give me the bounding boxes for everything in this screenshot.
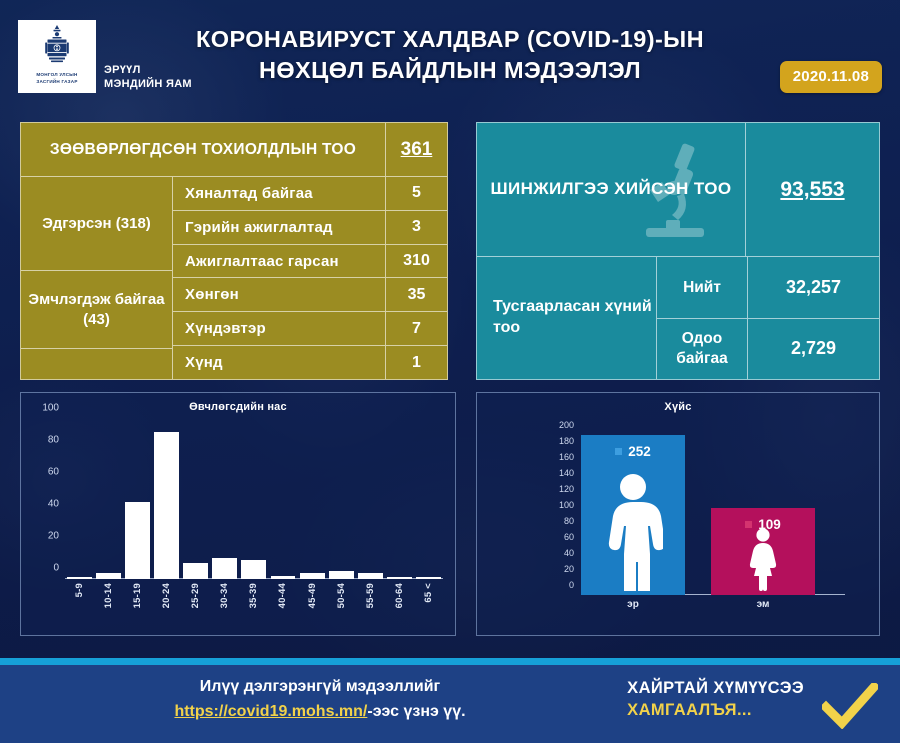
age-bar — [154, 432, 179, 579]
footer-info-line-2: https://covid19.mohs.mn/-ээс үзнэ үү. — [40, 700, 600, 725]
age-bar — [358, 573, 383, 579]
sex-bar-female: 109 — [711, 508, 815, 595]
logo-line-2: ЗАСГИЙН ГАЗАР — [36, 79, 77, 86]
age-chart-y-tick: 0 — [53, 563, 59, 574]
sex-chart-y-tick: 40 — [564, 548, 574, 558]
row-value: 7 — [385, 312, 447, 345]
age-distribution-chart: Өвчлөгсдийн нас 020406080100 5-910-1415-… — [20, 392, 456, 636]
table-row: Одоо байгаа 2,729 — [657, 319, 879, 380]
age-bar-wrap — [154, 419, 179, 579]
age-x-label: 40-44 — [271, 583, 296, 629]
age-bar-wrap — [416, 419, 441, 579]
age-bar-wrap — [125, 419, 150, 579]
male-legend-swatch-icon — [615, 448, 622, 455]
sex-bar-female-wrap: 109 — [711, 435, 815, 595]
age-x-label: 5-9 — [67, 583, 92, 629]
title-line-2: НӨХЦӨЛ БАЙДЛЫН МЭДЭЭЛЭЛ — [150, 55, 750, 86]
age-bar-wrap — [387, 419, 412, 579]
age-chart-bars — [65, 419, 443, 579]
sex-x-label-male: эр — [581, 599, 685, 610]
table-row: Хүнд 1 — [173, 346, 447, 379]
header: МОНГОЛ УЛСЫН ЗАСГИЙН ГАЗАР ЭРҮҮЛ МЭНДИЙН… — [0, 0, 900, 114]
age-bar — [387, 577, 412, 579]
table-row: Хүндэвтэр 7 — [173, 312, 447, 346]
sex-chart-title: Хүйс — [477, 401, 879, 413]
row-label: Ажиглалтаас гарсан — [173, 253, 385, 270]
logo-line-1: МОНГОЛ УЛСЫН — [36, 72, 77, 79]
sex-chart-y-tick: 200 — [559, 420, 574, 430]
cases-group-column: Эдгэрсэн (318) Эмчлэгдэж байгаа (43) — [21, 177, 173, 379]
age-bar — [241, 560, 266, 579]
footer-slogan: ХАЙРТАЙ ХҮМҮҮСЭЭ ХАМГААЛЪЯ... — [627, 677, 804, 722]
slogan-line-2: ХАМГААЛЪЯ... — [627, 699, 804, 721]
age-bar-wrap — [329, 419, 354, 579]
male-figure-icon — [603, 471, 663, 591]
sex-chart-y-tick: 20 — [564, 564, 574, 574]
row-value: 32,257 — [747, 257, 879, 318]
page-title: КОРОНАВИРУСТ ХАЛДВАР (COVID-19)-ЫН НӨХЦӨ… — [150, 24, 750, 85]
age-bar — [329, 571, 354, 579]
soyombo-icon — [44, 24, 70, 70]
age-x-label: 15-19 — [125, 583, 150, 629]
row-value: 310 — [385, 245, 447, 278]
age-x-label: 65 < — [416, 583, 441, 629]
row-value: 35 — [385, 278, 447, 311]
isolated-rows: Нийт 32,257 Одоо байгаа 2,729 — [657, 257, 879, 379]
row-label: Хяналтад байгаа — [173, 185, 385, 202]
age-chart-x-labels: 5-910-1415-1920-2425-2930-3435-3940-4445… — [65, 583, 443, 629]
table-row: Нийт 32,257 — [657, 257, 879, 319]
row-label: Хөнгөн — [173, 286, 385, 303]
group-under-treatment: Эмчлэгдэж байгаа (43) — [21, 271, 173, 349]
age-bar-wrap — [358, 419, 383, 579]
age-x-label: 30-34 — [212, 583, 237, 629]
logo-caption: МОНГОЛ УЛСЫН ЗАСГИЙН ГАЗАР — [36, 72, 77, 86]
cases-rows: Хяналтад байгаа 5 Гэрийн ажиглалтад 3 Аж… — [173, 177, 447, 379]
sex-x-label-female: эм — [711, 599, 815, 610]
female-figure-icon — [747, 527, 779, 591]
sex-chart-y-tick: 100 — [559, 500, 574, 510]
age-x-label: 55-59 — [358, 583, 383, 629]
row-label: Одоо байгаа — [657, 319, 747, 380]
age-bar — [125, 502, 150, 579]
cases-table-body: Эдгэрсэн (318) Эмчлэгдэж байгаа (43) Хян… — [21, 177, 447, 379]
age-chart-y-tick: 80 — [48, 435, 59, 446]
row-value: 1 — [385, 346, 447, 379]
government-logo: МОНГОЛ УЛСЫН ЗАСГИЙН ГАЗАР — [18, 20, 96, 93]
age-bar-wrap — [212, 419, 237, 579]
age-chart-title: Өвчлөгсдийн нас — [21, 401, 455, 413]
tests-table: ШИНЖИЛГЭЭ ХИЙСЭН ТОО 93,553 Тусгаарласан… — [476, 122, 880, 380]
sex-chart-y-tick: 180 — [559, 436, 574, 446]
sex-chart-y-tick: 160 — [559, 452, 574, 462]
sex-distribution-chart: Хүйс 252 — [476, 392, 880, 636]
age-bar-wrap — [183, 419, 208, 579]
footer-info-suffix: -ээс үзнэ үү. — [367, 703, 465, 720]
table-row: Хяналтад байгаа 5 — [173, 177, 447, 211]
age-chart-y-tick: 20 — [48, 531, 59, 542]
age-bar — [416, 577, 441, 579]
checkmark-icon — [822, 683, 878, 729]
row-label: Хүндэвтэр — [173, 320, 385, 337]
row-value: 2,729 — [747, 319, 879, 380]
row-value: 5 — [385, 177, 447, 210]
sex-bar-male-wrap: 252 — [581, 435, 685, 595]
tests-total-label: ШИНЖИЛГЭЭ ХИЙСЭН ТОО — [477, 123, 745, 256]
cases-table-header-row: ЗӨӨВӨРЛӨГДСӨН ТОХИОЛДЛЫН ТОО 361 — [21, 123, 447, 177]
male-value-label: 252 — [615, 444, 651, 459]
age-bar-wrap — [96, 419, 121, 579]
row-label: Гэрийн ажиглалтад — [173, 219, 385, 236]
age-bar-wrap — [300, 419, 325, 579]
age-bar-wrap — [271, 419, 296, 579]
group-recovered: Эдгэрсэн (318) — [21, 177, 173, 271]
age-x-label: 60-64 — [387, 583, 412, 629]
tests-table-header-row: ШИНЖИЛГЭЭ ХИЙСЭН ТОО 93,553 — [477, 123, 879, 257]
age-bar — [67, 577, 92, 579]
age-chart-y-tick: 40 — [48, 499, 59, 510]
age-x-label: 50-54 — [329, 583, 354, 629]
age-bar-wrap — [241, 419, 266, 579]
title-line-1: КОРОНАВИРУСТ ХАЛДВАР (COVID-19)-ЫН — [150, 24, 750, 55]
age-bar-wrap — [67, 419, 92, 579]
age-x-label: 20-24 — [154, 583, 179, 629]
age-bar — [271, 576, 296, 579]
sex-chart-plot-area: 252 109 — [581, 435, 827, 595]
row-label: Хүнд — [173, 354, 385, 371]
age-x-label: 10-14 — [96, 583, 121, 629]
sex-chart-y-tick: 80 — [564, 516, 574, 526]
age-chart-y-tick: 100 — [42, 403, 59, 414]
sex-chart-bars: 252 109 — [581, 435, 827, 595]
age-bar — [212, 558, 237, 579]
group-spacer — [21, 349, 173, 379]
cases-total-label: ЗӨӨВӨРЛӨГДСӨН ТОХИОЛДЛЫН ТОО — [21, 123, 385, 176]
footer: Илүү дэлгэрэнгүй мэдээллийг https://covi… — [0, 665, 900, 743]
age-x-label: 35-39 — [241, 583, 266, 629]
male-count: 252 — [628, 444, 651, 459]
tests-table-body: Тусгаарласан хүний тоо Нийт 32,257 Одоо … — [477, 257, 879, 379]
cases-total-value: 361 — [385, 123, 447, 176]
footer-info: Илүү дэлгэрэнгүй мэдээллийг https://covi… — [40, 675, 600, 725]
age-chart-y-tick: 60 — [48, 467, 59, 478]
footer-accent-rule — [0, 658, 900, 665]
sex-chart-y-tick: 140 — [559, 468, 574, 478]
sex-chart-y-tick: 120 — [559, 484, 574, 494]
row-label: Нийт — [657, 257, 747, 318]
age-x-label: 45-49 — [300, 583, 325, 629]
report-date-badge: 2020.11.08 — [780, 61, 882, 93]
row-value: 3 — [385, 211, 447, 244]
age-bar — [96, 573, 121, 579]
table-row: Гэрийн ажиглалтад 3 — [173, 211, 447, 245]
age-x-label: 25-29 — [183, 583, 208, 629]
sex-bar-male: 252 — [581, 435, 685, 595]
table-row: Хөнгөн 35 — [173, 278, 447, 312]
age-bar — [183, 563, 208, 579]
slogan-line-1: ХАЙРТАЙ ХҮМҮҮСЭЭ — [627, 677, 804, 699]
cases-table: ЗӨӨВӨРЛӨГДСӨН ТОХИОЛДЛЫН ТОО 361 Эдгэрсэ… — [20, 122, 448, 380]
footer-info-line-1: Илүү дэлгэрэнгүй мэдээллийг — [40, 675, 600, 700]
isolated-people-label: Тусгаарласан хүний тоо — [477, 257, 657, 379]
age-bar — [300, 573, 325, 579]
sex-chart-y-tick: 60 — [564, 532, 574, 542]
covid-website-link[interactable]: https://covid19.mohs.mn/ — [174, 703, 367, 720]
table-row: Ажиглалтаас гарсан 310 — [173, 245, 447, 279]
age-chart-plot-area: 020406080100 — [65, 419, 443, 579]
tests-total-value: 93,553 — [745, 123, 879, 256]
sex-chart-x-labels: эр эм — [581, 599, 815, 610]
sex-chart-y-tick: 0 — [569, 580, 574, 590]
